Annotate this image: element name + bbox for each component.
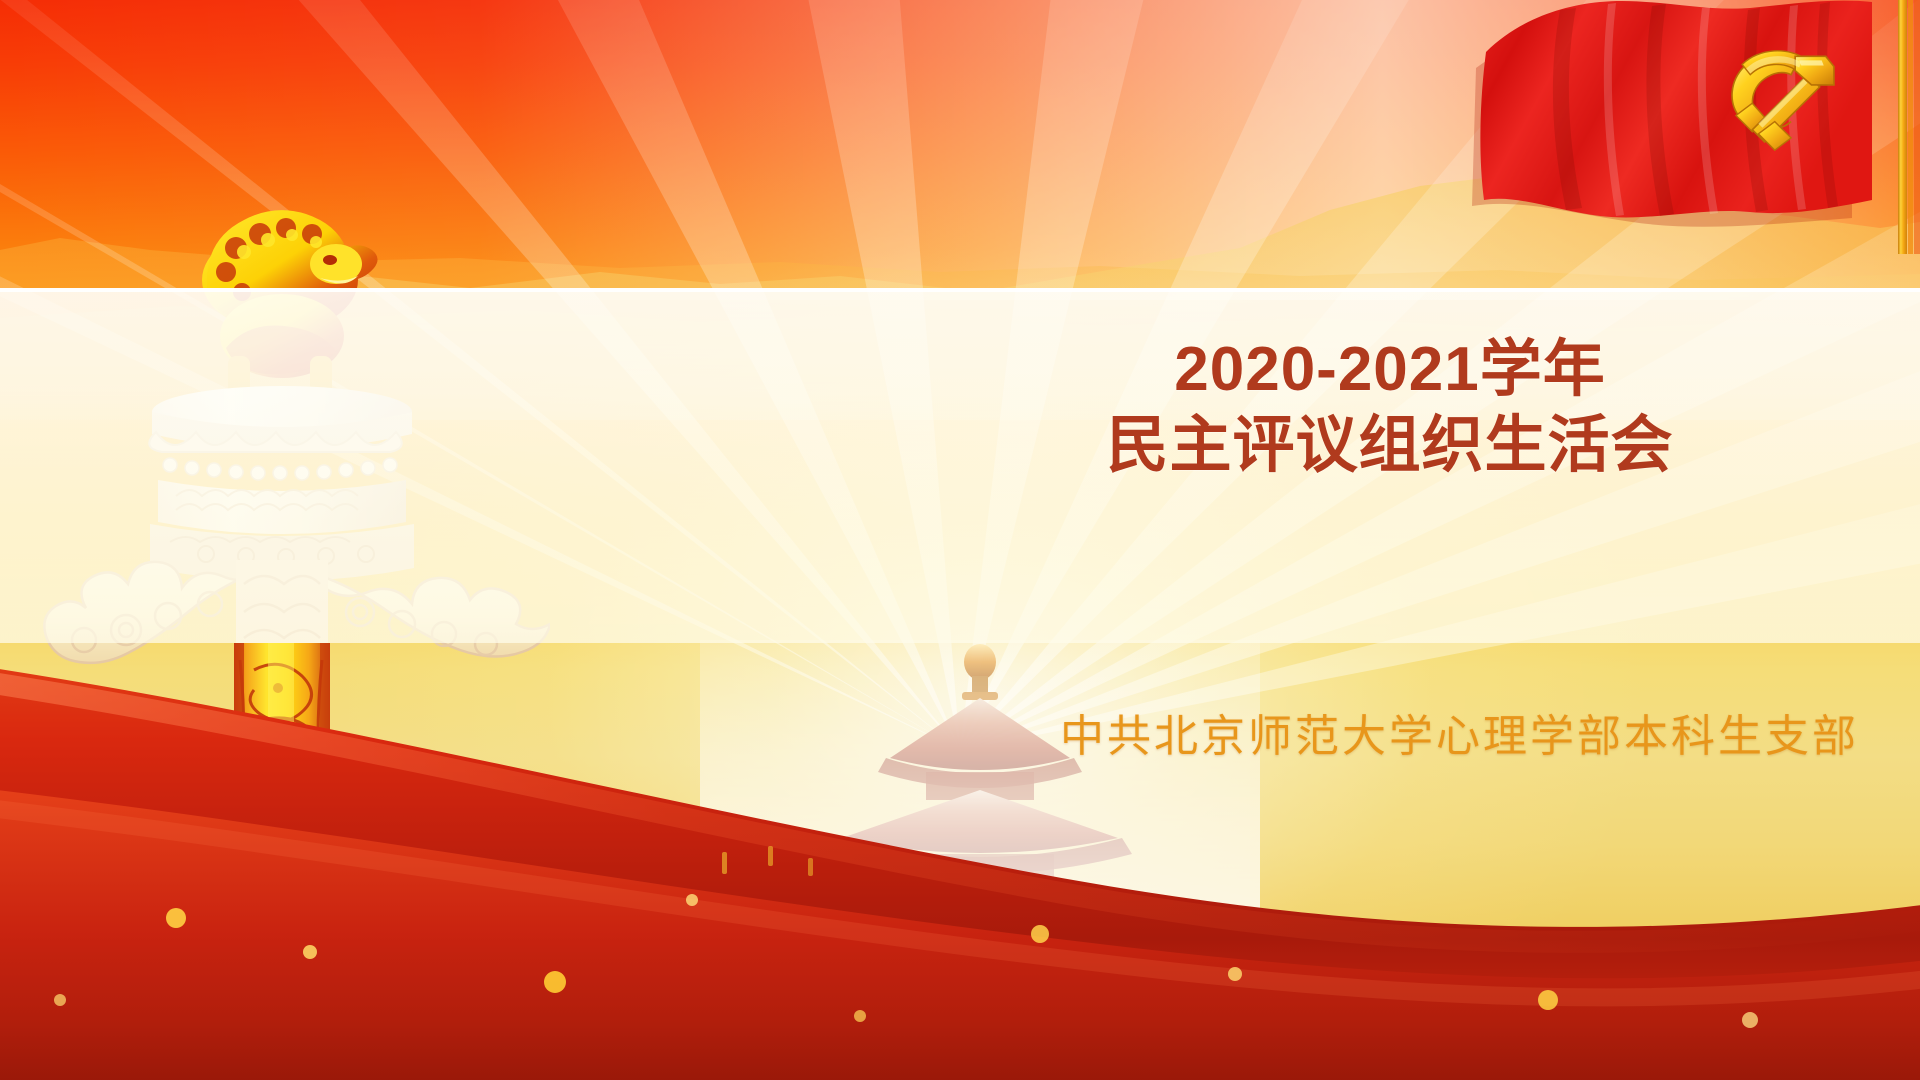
subtitle-organization: 中共北京师范大学心理学部本科生支部	[1060, 700, 1820, 764]
banner-top-highlight	[0, 288, 1920, 292]
party-flag	[1440, 0, 1920, 254]
title-line-2: 民主评议组织生活会	[960, 408, 1820, 484]
title-line-1: 2020-2021学年	[960, 332, 1820, 408]
red-silk-ribbon	[0, 600, 1920, 1080]
page-title: 2020-2021学年 民主评议组织生活会	[960, 332, 1820, 483]
flagpole	[1898, 0, 1907, 254]
title-slide: 2020-2021学年 民主评议组织生活会 中共北京师范大学心理学部本科生支部	[0, 0, 1920, 1080]
